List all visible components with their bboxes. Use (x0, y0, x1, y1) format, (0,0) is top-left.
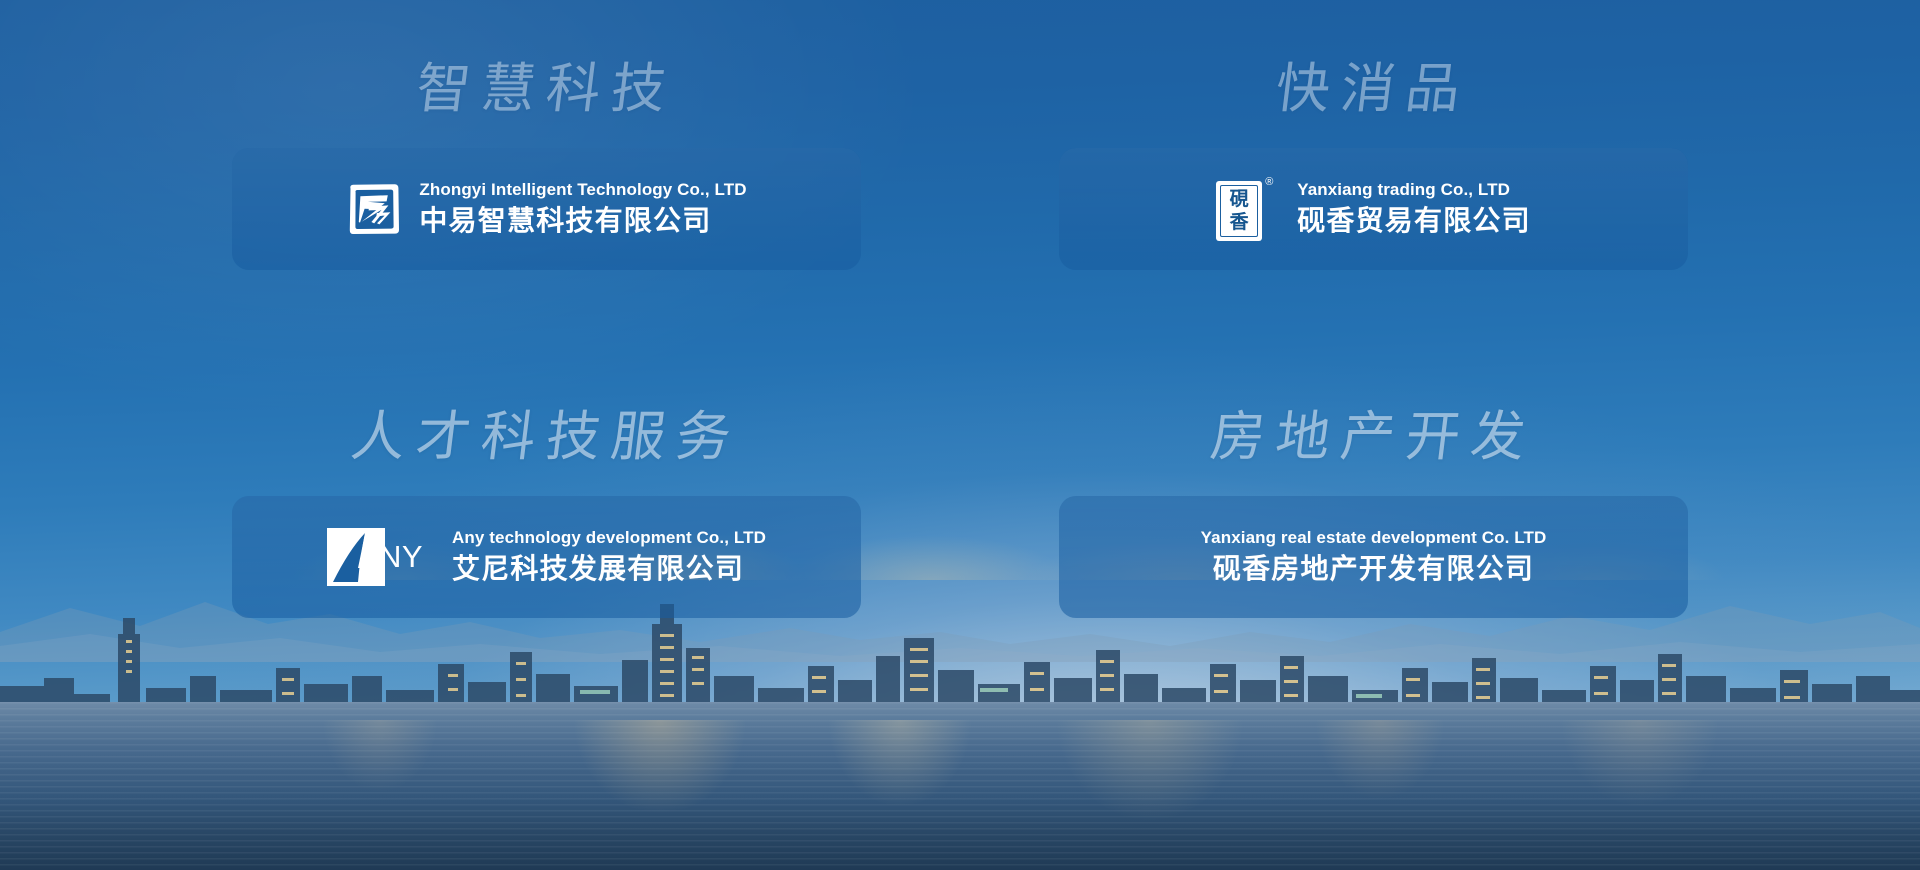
segment-fmcg: 快消品 硯 香 ® Yanxiang trading C (1059, 62, 1688, 410)
company-card-any-technology[interactable]: NY Any technology development Co., LTD 艾… (232, 496, 861, 618)
company-name-english: Zhongyi Intelligent Technology Co., LTD (419, 180, 746, 200)
company-name-chinese: 中易智慧科技有限公司 (419, 204, 746, 238)
registered-trademark-icon: ® (1265, 177, 1273, 188)
segment-heading-talent-technology-services: 人才科技服务 (229, 410, 865, 464)
business-segments-grid: 智慧科技 Zhongyi (0, 0, 1920, 870)
segment-heading-fmcg: 快消品 (1056, 62, 1692, 116)
segment-smart-technology: 智慧科技 Zhongyi (232, 62, 861, 410)
card-content: 硯 香 ® Yanxiang trading Co., LTD 砚香贸易有限公司 (1216, 177, 1531, 241)
seal-character-xiang: 香 (1230, 213, 1249, 232)
segment-talent-technology-services: 人才科技服务 NY (232, 410, 861, 758)
company-name-english: Any technology development Co., LTD (452, 528, 766, 548)
card-content: Zhongyi Intelligent Technology Co., LTD … (346, 180, 746, 238)
company-name-english: Yanxiang trading Co., LTD (1297, 180, 1531, 200)
company-name-chinese: 砚香贸易有限公司 (1297, 204, 1531, 238)
company-card-yanxiang-trading[interactable]: 硯 香 ® Yanxiang trading Co., LTD 砚香贸易有限公司 (1059, 148, 1688, 270)
card-content: Yanxiang real estate development Co. LTD… (1201, 528, 1547, 586)
segment-real-estate-development: 房地产开发 Yanxiang real estate development C… (1059, 410, 1688, 758)
card-content: NY Any technology development Co., LTD 艾… (327, 528, 766, 586)
company-name-chinese: 艾尼科技发展有限公司 (452, 552, 766, 586)
zhongyi-logo-icon (346, 181, 402, 237)
hero-banner: 智慧科技 Zhongyi (0, 0, 1920, 870)
company-name-chinese: 砚香房地产开发有限公司 (1213, 552, 1534, 586)
company-name-block: Zhongyi Intelligent Technology Co., LTD … (419, 180, 746, 238)
company-name-english: Yanxiang real estate development Co. LTD (1201, 528, 1547, 548)
company-name-block: Yanxiang real estate development Co. LTD… (1201, 528, 1547, 586)
segment-heading-smart-technology: 智慧科技 (229, 62, 865, 116)
company-name-block: Any technology development Co., LTD 艾尼科技… (452, 528, 766, 586)
company-card-yanxiang-real-estate[interactable]: Yanxiang real estate development Co. LTD… (1059, 496, 1688, 618)
any-logo-icon: NY (327, 528, 435, 586)
company-name-block: Yanxiang trading Co., LTD 砚香贸易有限公司 (1297, 180, 1531, 238)
seal-inner-frame: 硯 香 (1220, 185, 1258, 237)
any-logo-wordmark: NY (379, 541, 423, 572)
yanxiang-seal-logo-icon: 硯 香 ® (1216, 177, 1280, 241)
seal-outer-box: 硯 香 (1216, 181, 1262, 241)
any-logo-square (327, 528, 385, 586)
seal-character-yan: 硯 (1230, 190, 1249, 209)
segment-heading-real-estate-development: 房地产开发 (1056, 410, 1692, 464)
company-card-zhongyi[interactable]: Zhongyi Intelligent Technology Co., LTD … (232, 148, 861, 270)
